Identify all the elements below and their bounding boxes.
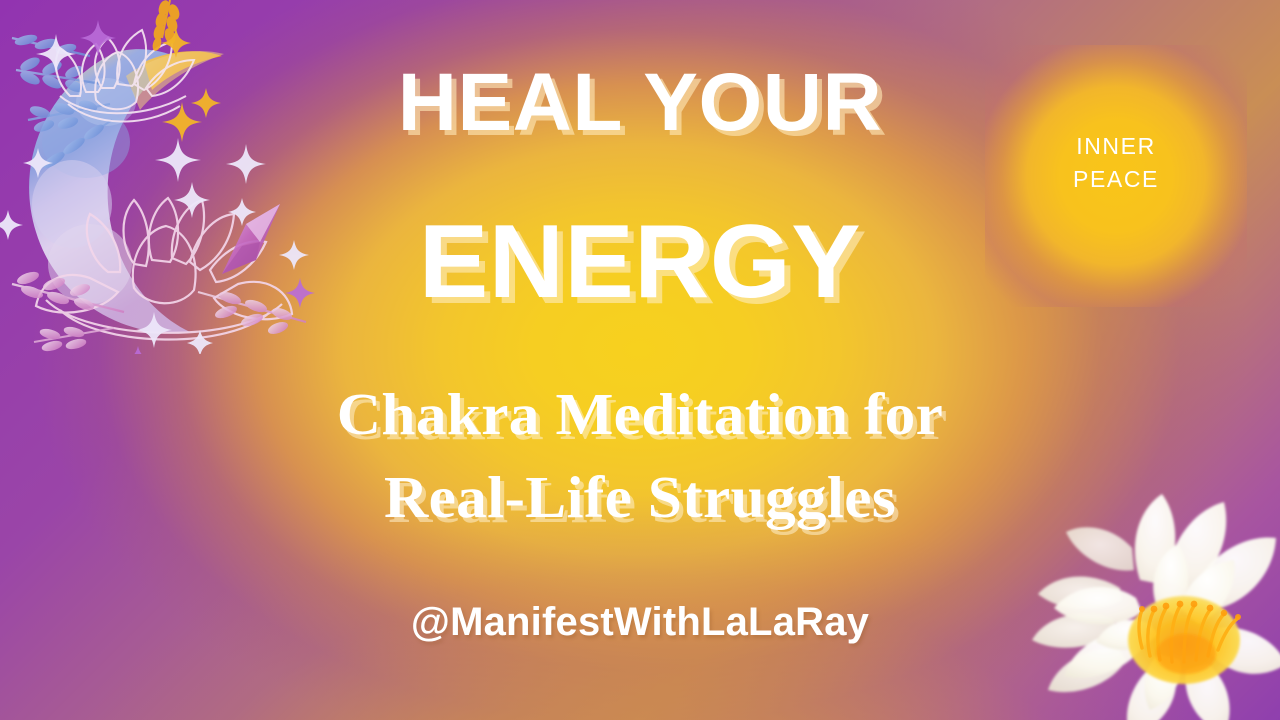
inner-peace-badge: INNER PEACE [1040, 130, 1192, 197]
text-block: HEAL YOUR ENERGY Chakra Meditation for R… [0, 0, 1280, 720]
subtitle-line-1: Chakra Meditation for [0, 385, 1280, 444]
social-handle: @ManifestWithLaLaRay [0, 600, 1280, 645]
subtitle-line-2: Real-Life Struggles [0, 468, 1280, 527]
badge-line-2: PEACE [1040, 163, 1192, 196]
title-line-2: ENERGY [0, 210, 1280, 314]
badge-line-1: INNER [1040, 130, 1192, 163]
poster-canvas: HEAL YOUR ENERGY Chakra Meditation for R… [0, 0, 1280, 720]
